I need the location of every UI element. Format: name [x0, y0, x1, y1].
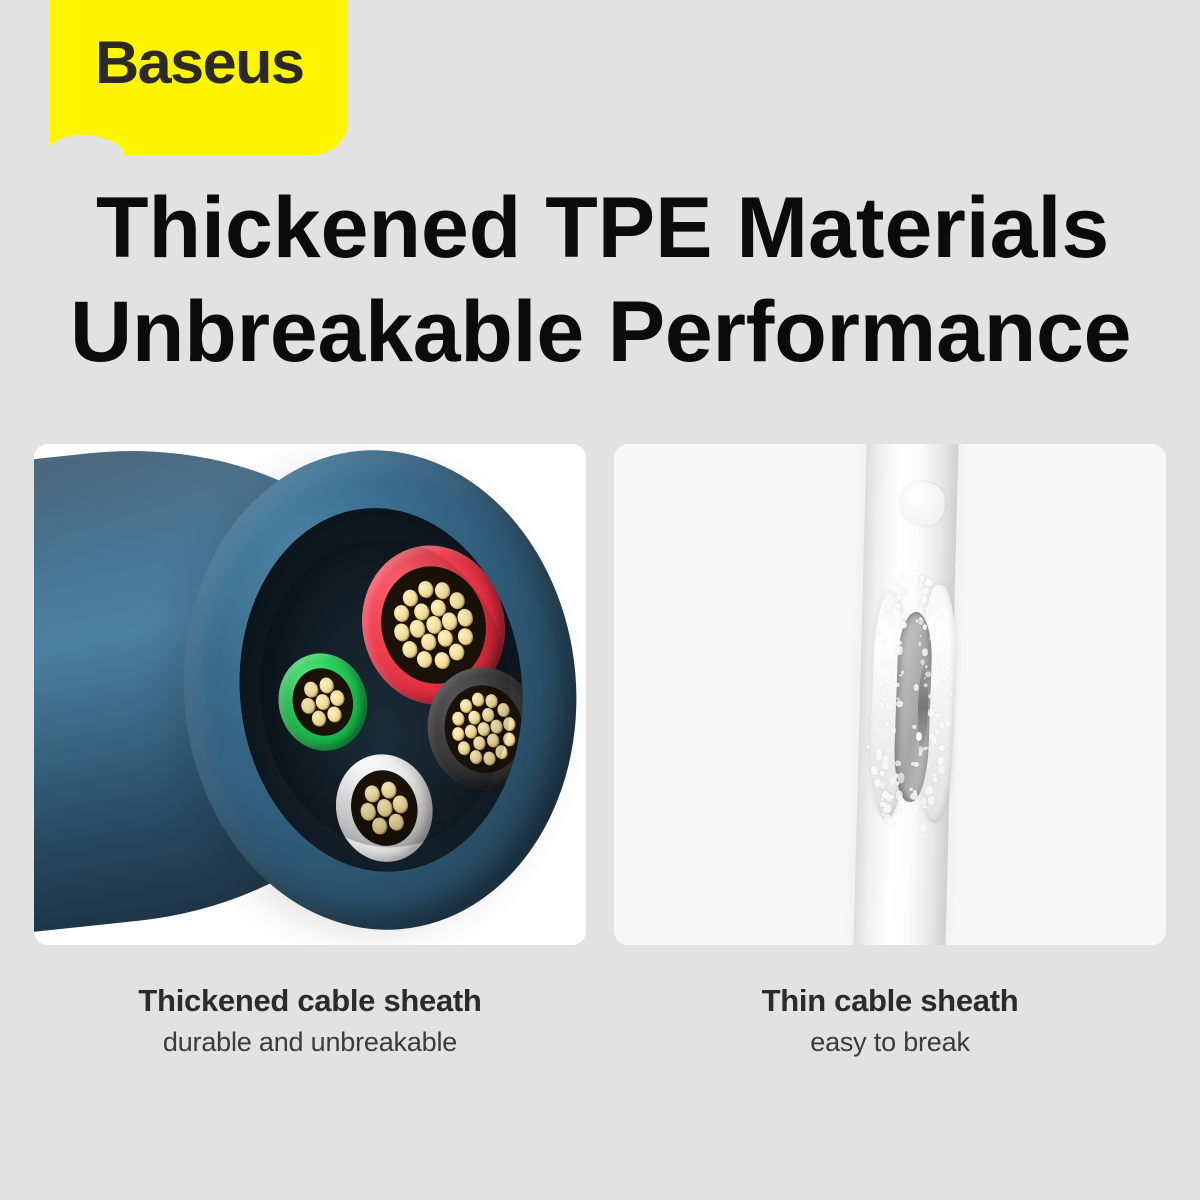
caption-thin-subtitle: easy to break: [614, 1022, 1166, 1062]
caption-thickened-subtitle: durable and unbreakable: [34, 1022, 586, 1062]
caption-thickened-title: Thickened cable sheath: [34, 980, 586, 1022]
black-wire-strands: [437, 678, 530, 779]
cable-inner-bore: [225, 496, 538, 883]
thin-cable-photo-card: [614, 444, 1166, 945]
comparison-captions: Thickened cable sheath durable and unbre…: [34, 980, 1166, 1062]
caption-thin-title: Thin cable sheath: [614, 980, 1166, 1022]
caption-thin: Thin cable sheath easy to break: [614, 980, 1166, 1062]
tear-fray-debris: [864, 576, 973, 837]
thickened-cable-photo-card: [34, 444, 586, 945]
headline-line-2: Unbreakable Performance: [70, 280, 1156, 384]
brand-badge: Baseus: [50, 0, 348, 155]
comparison-cards: [34, 444, 1166, 945]
cable-tear: [876, 589, 960, 826]
headline-line-1: Thickened TPE Materials: [96, 176, 1156, 280]
broken-cable-illustration: [614, 444, 1166, 945]
cable-cross-section-illustration: [34, 444, 586, 945]
headline: Thickened TPE Materials Unbreakable Perf…: [96, 176, 1156, 384]
black-wire-conductor: [437, 678, 530, 779]
caption-thickened: Thickened cable sheath durable and unbre…: [34, 980, 586, 1062]
product-feature-banner: Baseus Thickened TPE Materials Unbreakab…: [0, 0, 1200, 1200]
brand-wordmark: Baseus: [95, 33, 304, 93]
